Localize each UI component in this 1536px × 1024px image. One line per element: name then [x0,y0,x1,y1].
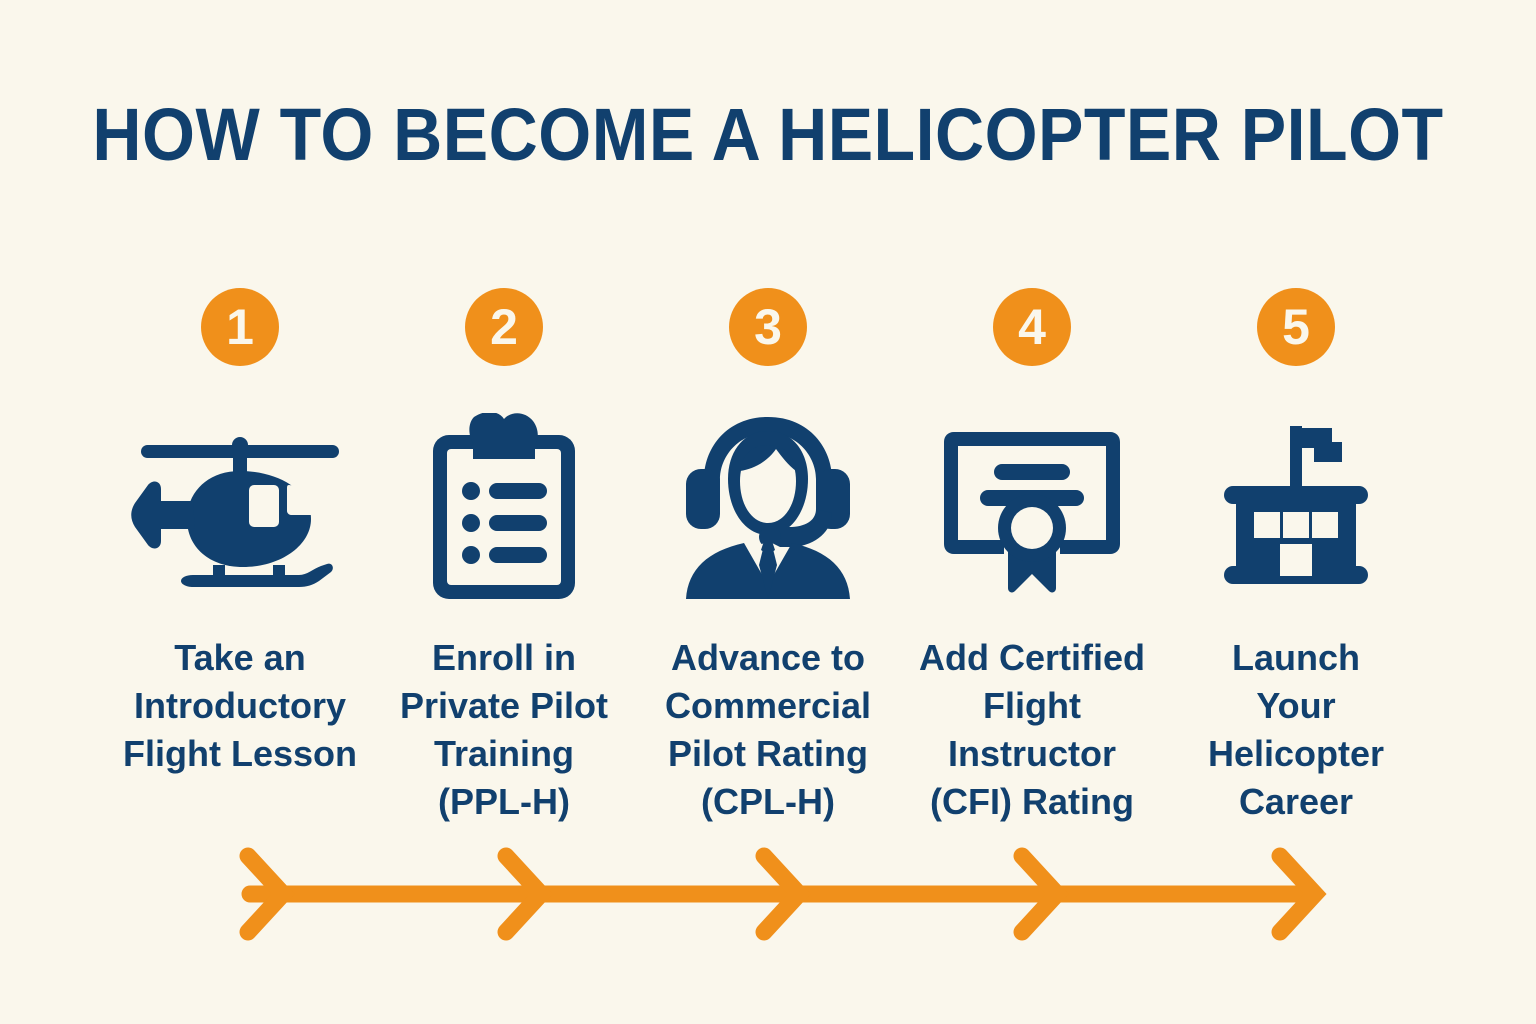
pilot-headset-icon [682,413,854,603]
step-number-badge-4: 4 [993,288,1071,366]
step-4: 4 A [904,288,1160,826]
step-caption-4: Add Certified Flight Instructor (CFI) Ra… [919,634,1145,826]
step-3: 3 [640,288,896,826]
step-caption-3: Advance to Commercial Pilot Rating (CPL-… [665,634,871,826]
clipboard-checklist-icon [429,413,579,603]
step-number-5: 5 [1282,302,1310,352]
step-number-4: 4 [1018,302,1046,352]
step-icon-3 [682,410,854,606]
page-title: HOW TO BECOME A HELICOPTER PILOT [61,96,1474,174]
step-number-badge-1: 1 [201,288,279,366]
helicopter-icon [121,423,359,593]
step-icon-4 [942,410,1122,606]
progress-arrow [0,836,1536,956]
step-number-badge-5: 5 [1257,288,1335,366]
step-icon-1 [121,410,359,606]
infographic-canvas: HOW TO BECOME A HELICOPTER PILOT 1 [0,0,1536,1024]
steps-row: 1 [112,288,1424,826]
step-1: 1 [112,288,368,778]
flight-school-building-icon [1220,420,1372,596]
step-number-badge-2: 2 [465,288,543,366]
step-number-2: 2 [490,302,518,352]
step-5: 5 [1168,288,1424,826]
step-2: 2 [376,288,632,826]
certificate-seal-icon [942,422,1122,594]
step-caption-5: Launch Your Helicopter Career [1208,634,1384,826]
step-number-3: 3 [754,302,782,352]
step-number-badge-3: 3 [729,288,807,366]
step-icon-2 [429,410,579,606]
step-icon-5 [1220,410,1372,606]
step-caption-1: Take an Introductory Flight Lesson [123,634,357,778]
step-number-1: 1 [226,302,254,352]
step-caption-2: Enroll in Private Pilot Training (PPL-H) [400,634,608,826]
